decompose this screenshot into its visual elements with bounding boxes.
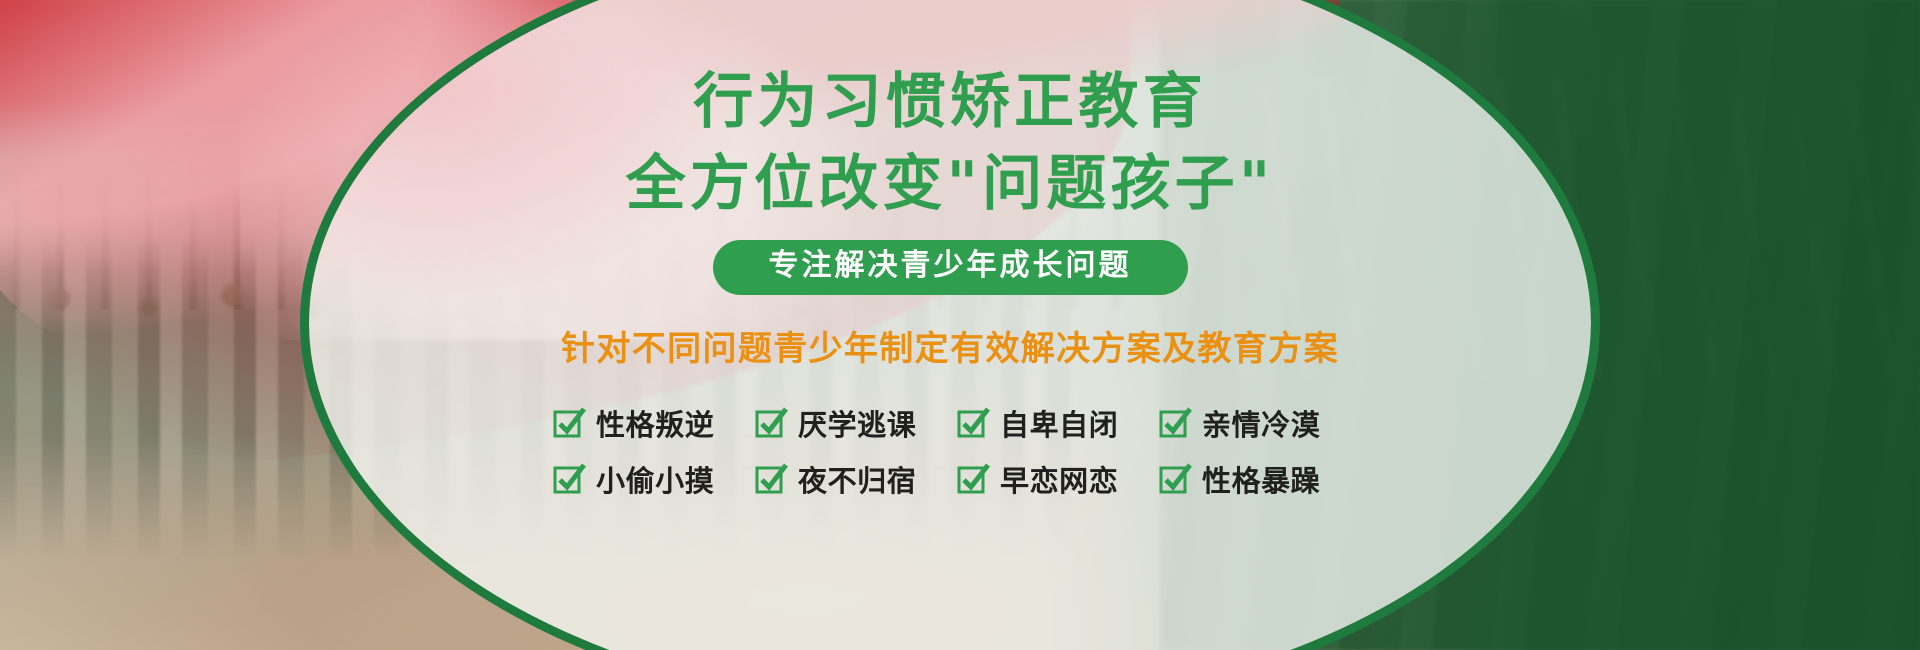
list-item: 小偷小摸 bbox=[554, 454, 740, 504]
checkbox-checked-icon bbox=[958, 464, 988, 494]
list-item-label: 小偷小摸 bbox=[596, 458, 714, 500]
promo-banner: 行为习惯矫正教育 全方位改变"问题孩子" 专注解决青少年成长问题 针对不同问题青… bbox=[0, 0, 1920, 650]
checkbox-checked-icon bbox=[1160, 408, 1190, 438]
checkbox-checked-icon bbox=[958, 408, 988, 438]
list-item-label: 亲情冷漠 bbox=[1202, 402, 1320, 444]
headline-line-1: 行为习惯矫正教育 bbox=[693, 72, 1207, 132]
list-item: 亲情冷漠 bbox=[1160, 398, 1346, 448]
list-item: 性格叛逆 bbox=[554, 398, 740, 448]
checkbox-checked-icon bbox=[756, 464, 786, 494]
problem-list: 性格叛逆 厌学逃课 自卑自闭 亲情冷漠 bbox=[554, 398, 1346, 504]
list-item: 性格暴躁 bbox=[1160, 454, 1346, 504]
list-item-label: 早恋网恋 bbox=[1000, 458, 1118, 500]
checkbox-checked-icon bbox=[554, 408, 584, 438]
list-item-label: 厌学逃课 bbox=[798, 402, 916, 444]
subtitle-pill: 专注解决青少年成长问题 bbox=[713, 240, 1188, 295]
list-item-label: 自卑自闭 bbox=[1000, 402, 1118, 444]
list-item: 厌学逃课 bbox=[756, 398, 942, 448]
list-item-label: 性格叛逆 bbox=[596, 402, 714, 444]
list-item: 夜不归宿 bbox=[756, 454, 942, 504]
headline-line-2: 全方位改变"问题孩子" bbox=[626, 154, 1275, 214]
list-item-label: 性格暴躁 bbox=[1202, 458, 1320, 500]
list-item: 早恋网恋 bbox=[958, 454, 1144, 504]
list-item: 自卑自闭 bbox=[958, 398, 1144, 448]
checkbox-checked-icon bbox=[1160, 464, 1190, 494]
checkbox-checked-icon bbox=[756, 408, 786, 438]
tagline-text: 针对不同问题青少年制定有效解决方案及教育方案 bbox=[561, 321, 1339, 370]
banner-content: 行为习惯矫正教育 全方位改变"问题孩子" 专注解决青少年成长问题 针对不同问题青… bbox=[300, 0, 1600, 650]
list-item-label: 夜不归宿 bbox=[798, 458, 916, 500]
checkbox-checked-icon bbox=[554, 464, 584, 494]
